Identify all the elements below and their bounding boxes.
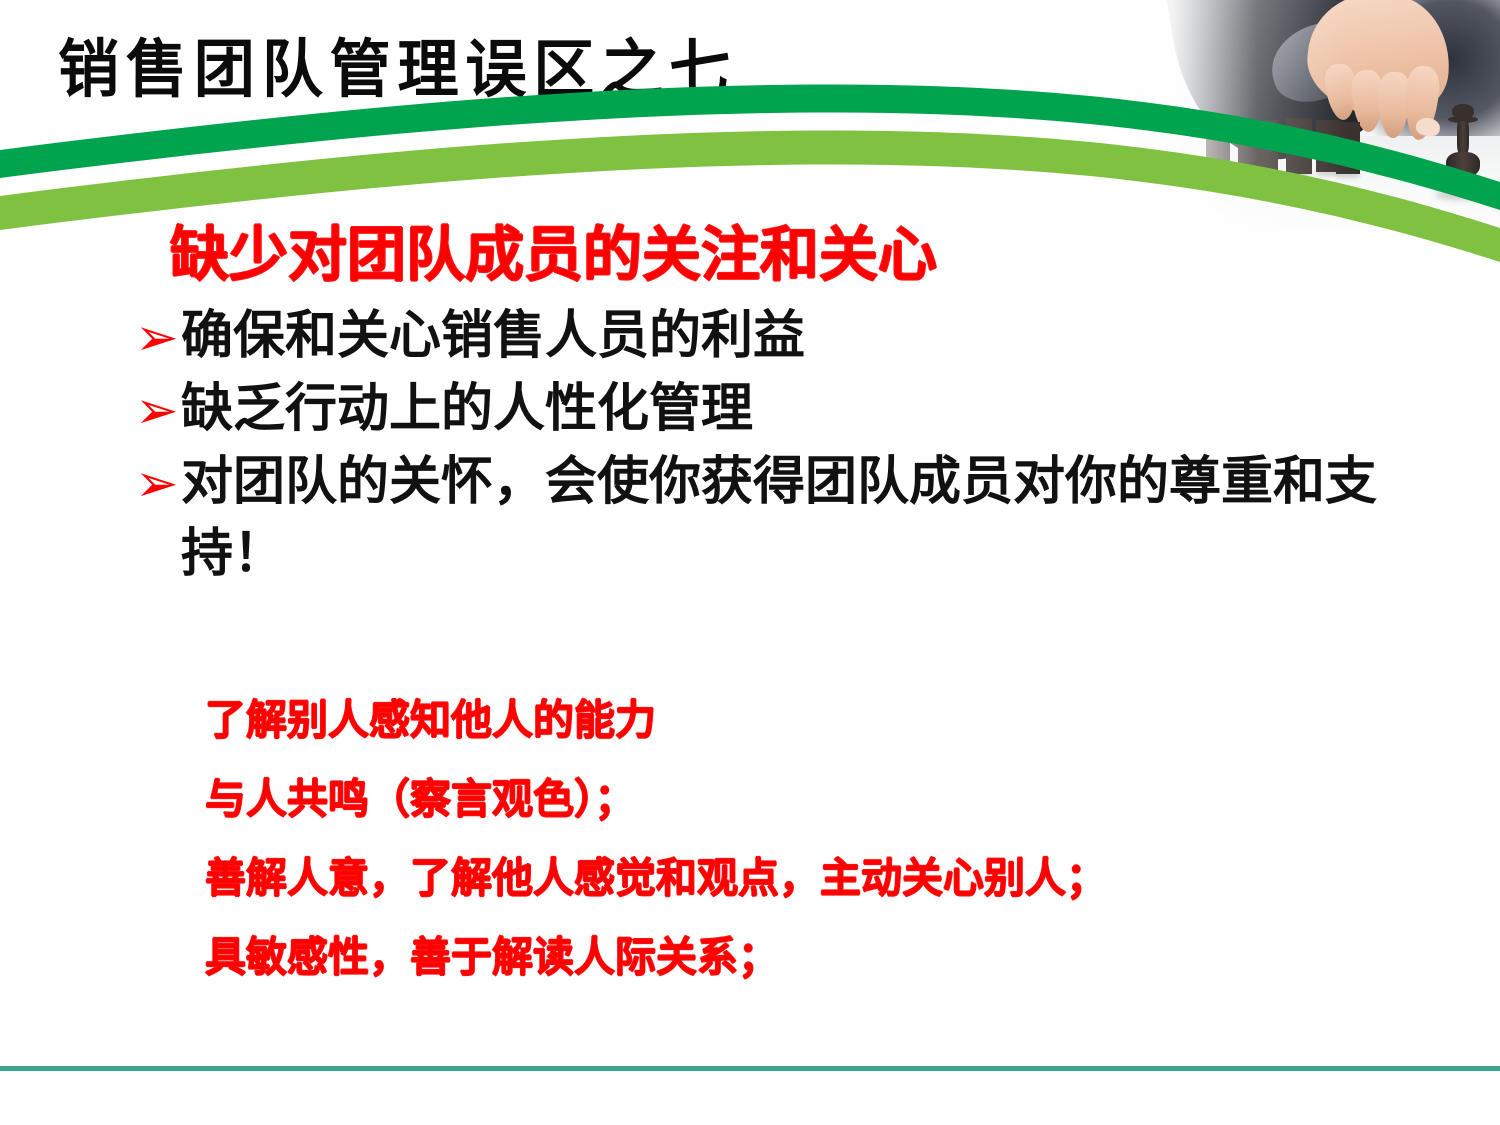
bullet-text-2: 缺乏行动上的人性化管理: [181, 373, 1470, 446]
chess-pawn-3: [1254, 120, 1278, 172]
bullet-list: ➢ 确保和关心销售人员的利益 ➢ 缺乏行动上的人性化管理 ➢ 对团队的关怀，会使…: [0, 300, 1500, 591]
arrow-bullet-icon: ➢: [135, 385, 179, 437]
chess-pawn-5: [1336, 122, 1360, 174]
bullet-text-3: 对团队的关怀，会使你获得团队成员对你的尊重和支持！: [181, 446, 1470, 592]
red-note-block: 了解别人感知他人的能力 与人共鸣（察言观色）； 善解人意，了解他人感觉和观点，主…: [205, 700, 1445, 978]
bullet-item-1: ➢ 确保和关心销售人员的利益: [135, 300, 1470, 373]
red-note-line-3: 善解人意，了解他人感觉和观点，主动关心别人；: [205, 858, 1445, 899]
bullet-item-2: ➢ 缺乏行动上的人性化管理: [135, 373, 1470, 446]
bullet-item-3: ➢ 对团队的关怀，会使你获得团队成员对你的尊重和支持！: [135, 446, 1470, 592]
red-note-line-1: 了解别人感知他人的能力: [205, 700, 1445, 741]
section-heading: 缺少对团队成员的关注和关心: [170, 222, 1500, 288]
page-title: 销售团队管理误区之七: [58, 36, 737, 102]
arrow-bullet-icon: ➢: [135, 312, 179, 364]
chess-pawn-1: [1206, 120, 1230, 172]
footer-divider: [0, 1066, 1500, 1071]
arrow-bullet-icon: ➢: [135, 458, 179, 510]
chess-king-piece: [1436, 104, 1490, 200]
chess-hand-photo: [1120, 0, 1500, 232]
red-note-line-2: 与人共鸣（察言观色）；: [205, 779, 1445, 820]
slide-body: 缺少对团队成员的关注和关心 ➢ 确保和关心销售人员的利益 ➢ 缺乏行动上的人性化…: [0, 222, 1500, 591]
slide-canvas: 销售团队管理误区之七 缺少对团队成员的关注和关心 ➢ 确保和关心销售人员的利益 …: [0, 0, 1500, 1125]
chess-knight: [1286, 118, 1312, 174]
red-note-line-4: 具敏感性，善于解读人际关系；: [205, 937, 1445, 978]
bullet-text-1: 确保和关心销售人员的利益: [181, 300, 1470, 373]
